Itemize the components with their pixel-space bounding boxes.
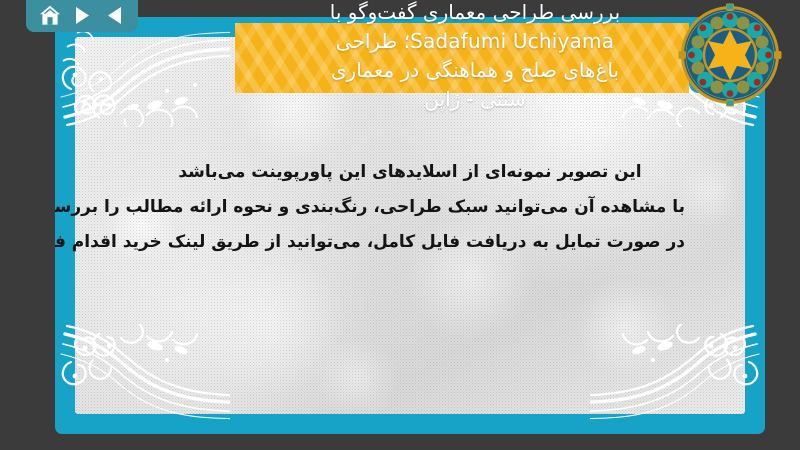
- slide-body-text: این تصویر نمونه‌ای از اسلایدهای این پاور…: [135, 155, 685, 260]
- body-line-3: در صورت تمایل به دریافت فایل کامل، می‌تو…: [135, 225, 685, 260]
- slide-preview-window: این تصویر نمونه‌ای از اسلایدهای این پاور…: [0, 0, 800, 450]
- previous-arrow-icon: [106, 6, 123, 25]
- bokeh-circle: [575, 277, 675, 377]
- title-banner: [235, 23, 725, 93]
- home-button[interactable]: [37, 3, 63, 27]
- next-button[interactable]: [69, 3, 95, 27]
- previous-button[interactable]: [101, 3, 127, 27]
- next-arrow-icon: [74, 6, 91, 25]
- title-banner-body: [235, 23, 689, 93]
- navigation-bar: [26, 0, 138, 32]
- body-line-1: این تصویر نمونه‌ای از اسلایدهای این پاور…: [135, 155, 685, 190]
- bokeh-circle: [315, 337, 399, 414]
- bokeh-circle: [675, 157, 745, 227]
- home-icon: [39, 5, 61, 26]
- persian-medallion-icon: [678, 3, 782, 107]
- bokeh-circle: [195, 247, 345, 397]
- body-line-2: با مشاهده آن می‌توانید سبک طراحی، رنگ‌بن…: [135, 190, 685, 225]
